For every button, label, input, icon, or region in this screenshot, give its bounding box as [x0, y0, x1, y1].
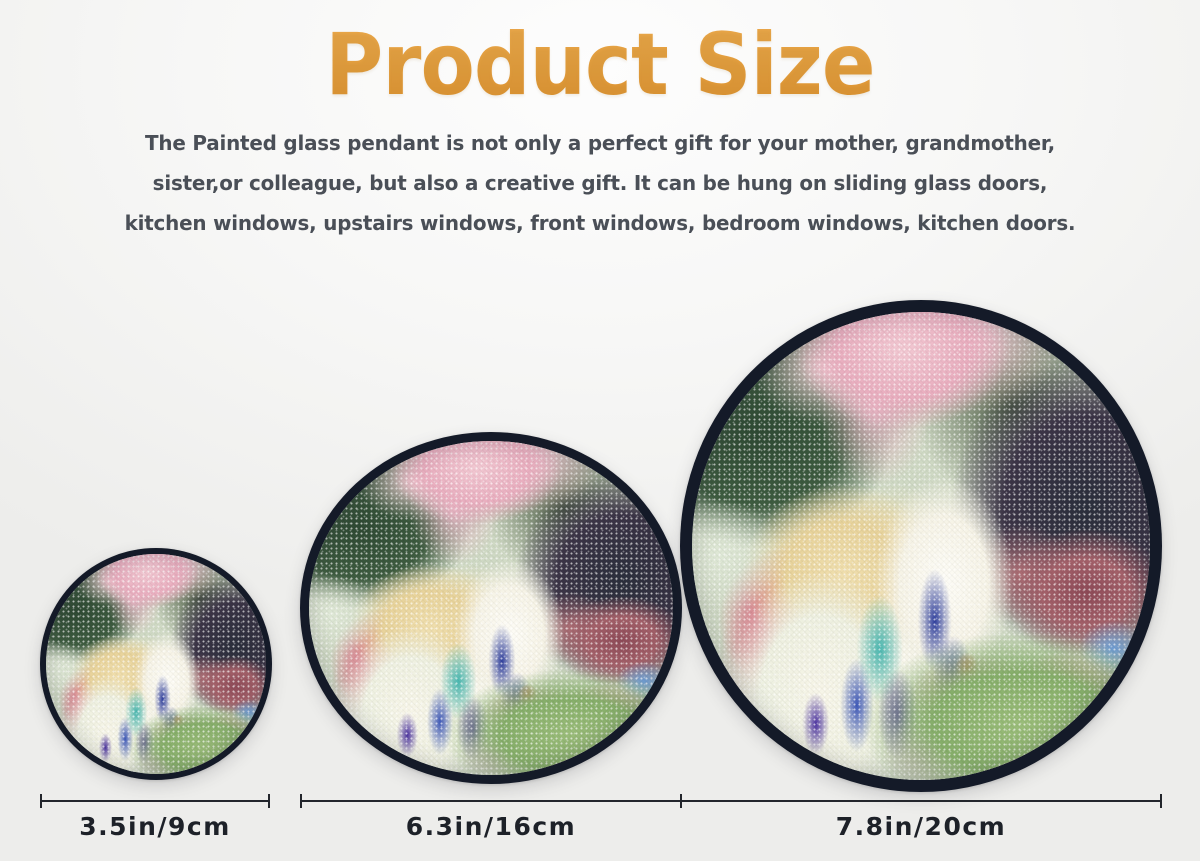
pendant-large-artwork [692, 312, 1150, 780]
product-size-infographic: Product Size The Painted glass pendant i… [0, 0, 1200, 861]
vignette-overlay [46, 554, 266, 774]
size-label-large: 7.8in/20cm [680, 812, 1162, 841]
size-label-small: 3.5in/9cm [40, 812, 270, 841]
pendant-medium-artwork [309, 441, 673, 775]
description-line-3: kitchen windows, upstairs windows, front… [18, 204, 1182, 244]
vignette-overlay [692, 312, 1150, 780]
page-title: Product Size [48, 0, 1152, 110]
horse-garden-scene [46, 554, 266, 774]
header: Product Size The Painted glass pendant i… [0, 0, 1200, 244]
dimension-line-small [40, 800, 270, 802]
pendant-small-artwork [46, 554, 266, 774]
size-label-medium: 6.3in/16cm [300, 812, 682, 841]
horse-garden-scene [692, 312, 1150, 780]
product-description: The Painted glass pendant is not only a … [0, 110, 1200, 244]
dimension-line-large [680, 800, 1162, 802]
pendant-medium[interactable] [300, 432, 682, 784]
pendant-large[interactable] [680, 300, 1162, 792]
vignette-overlay [309, 441, 673, 775]
pendant-small[interactable] [40, 548, 272, 780]
description-line-1: The Painted glass pendant is not only a … [18, 124, 1182, 164]
description-line-2: sister,or colleague, but also a creative… [18, 164, 1182, 204]
dimension-line-medium [300, 800, 682, 802]
horse-garden-scene [309, 441, 673, 775]
